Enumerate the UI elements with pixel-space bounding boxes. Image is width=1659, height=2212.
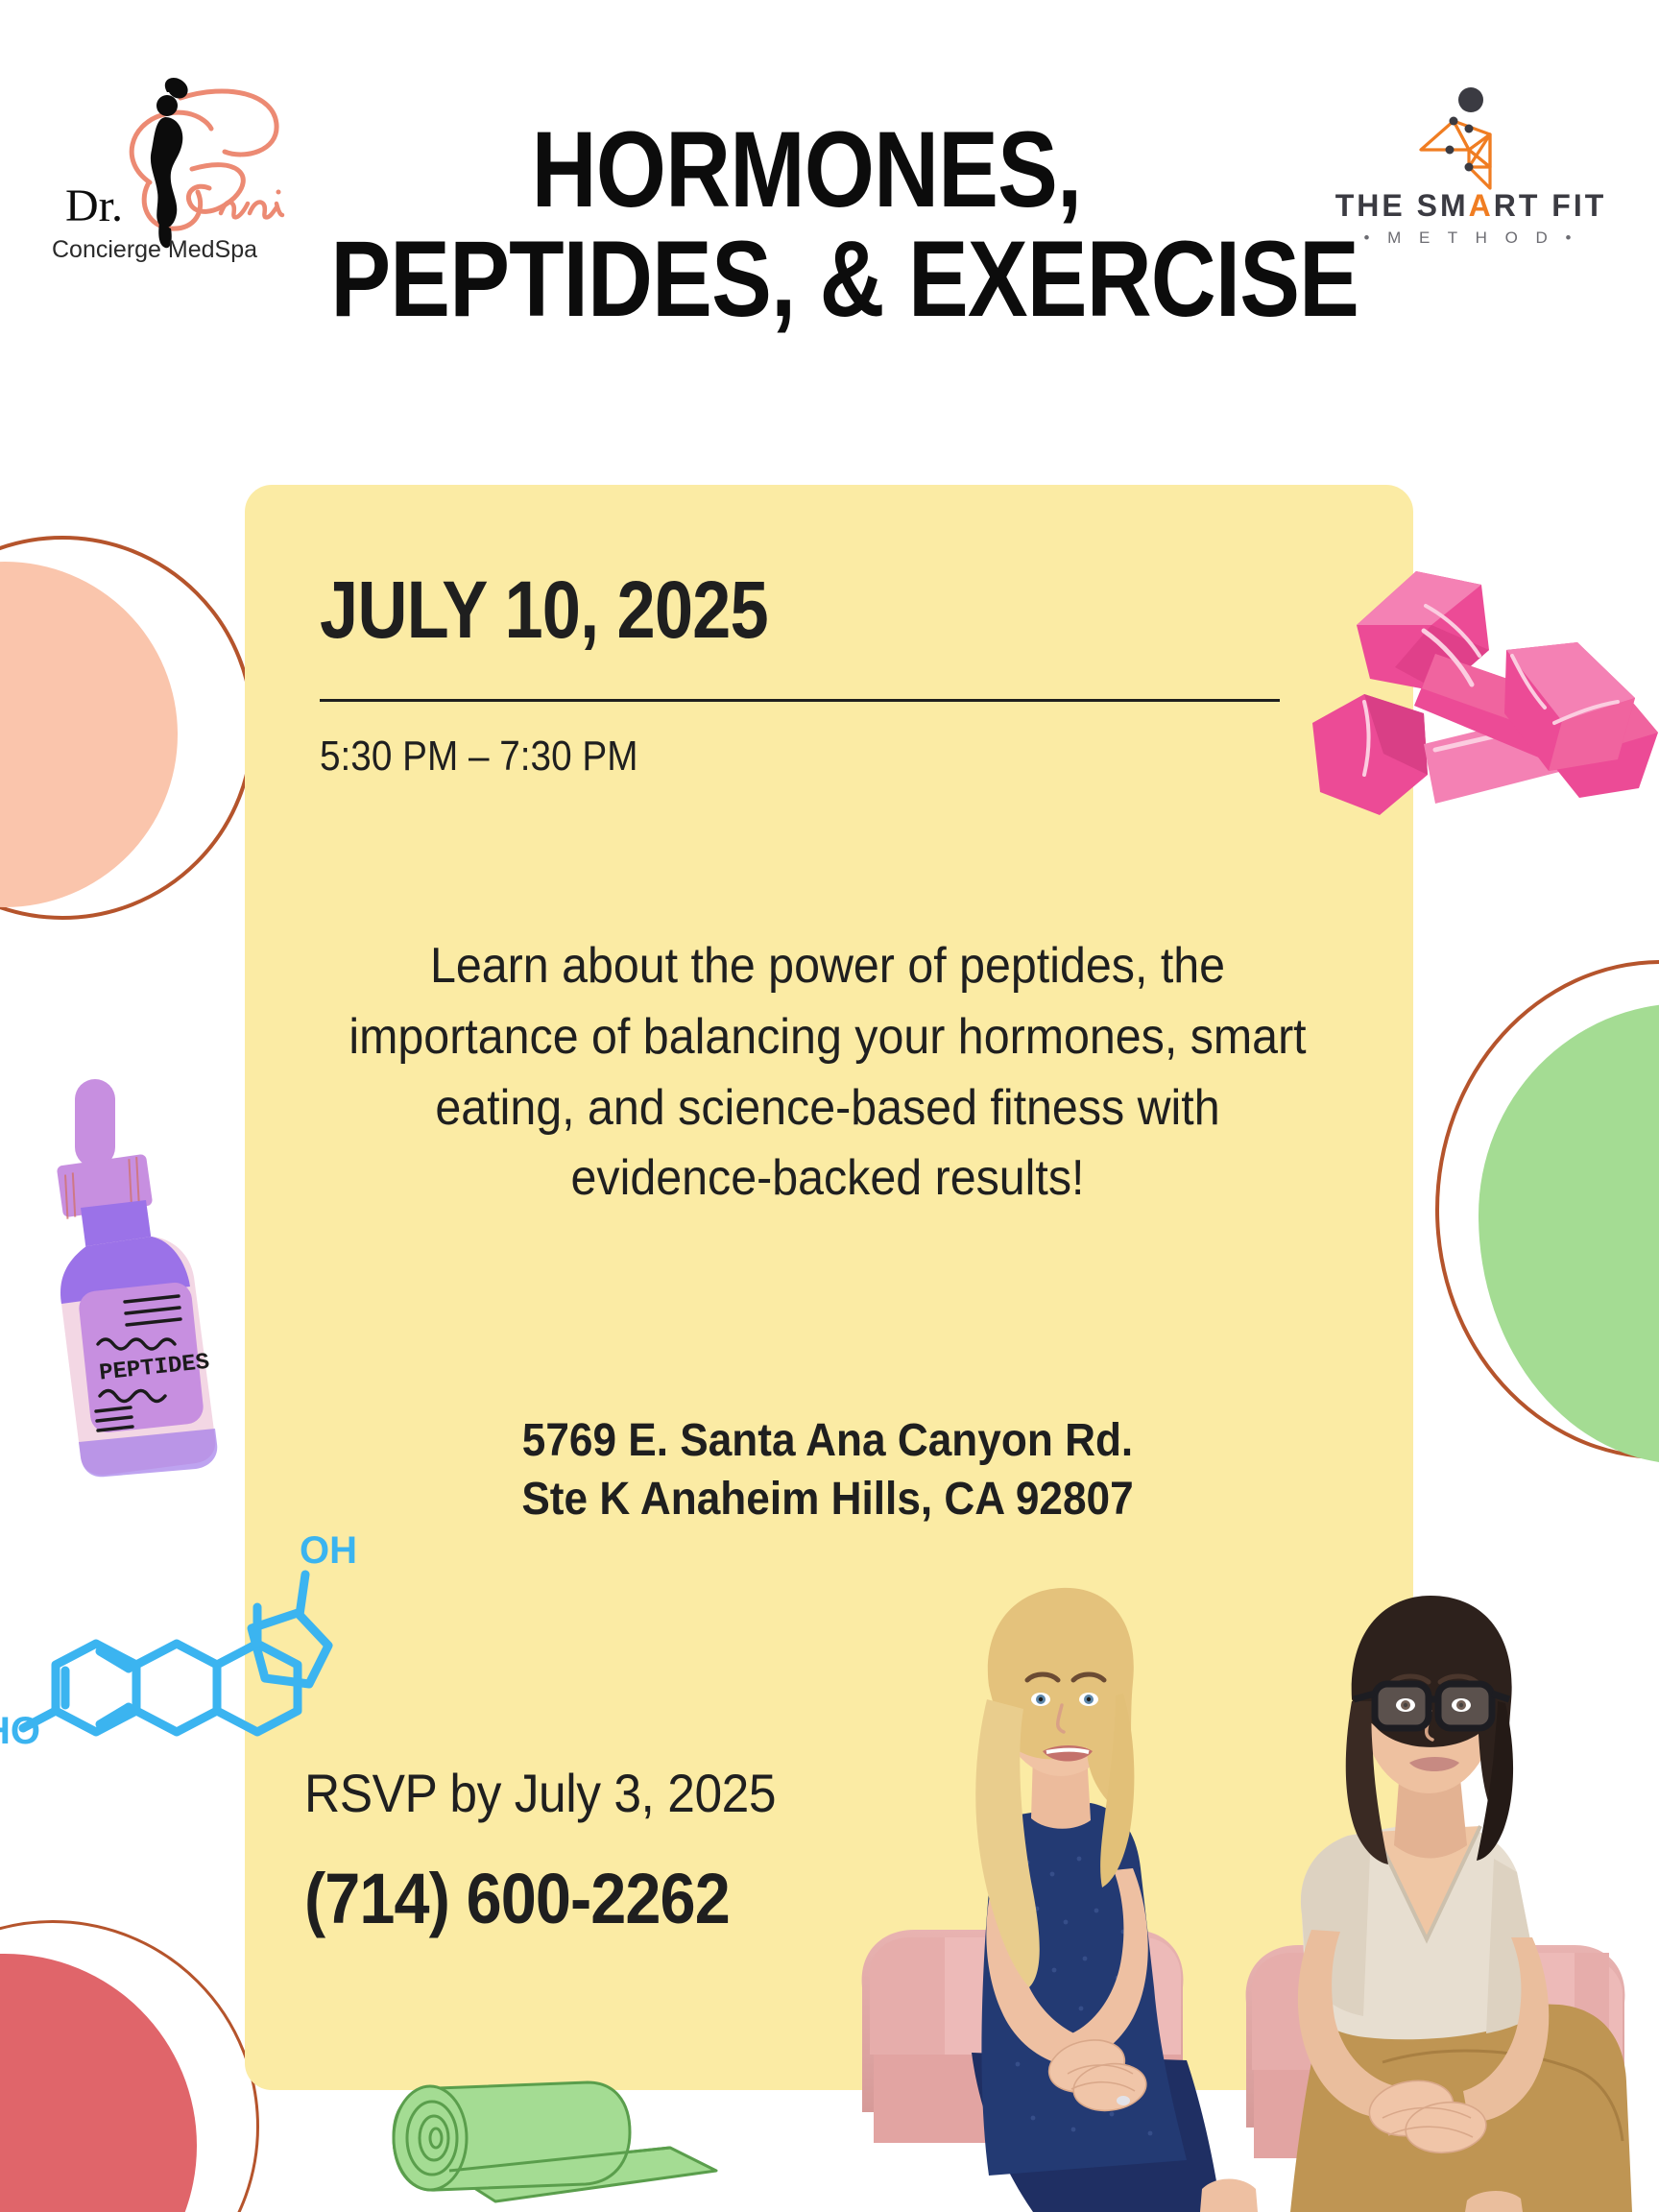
- rsvp-phone-number[interactable]: (714) 600-2262: [304, 1858, 730, 1939]
- flyer-header: Dr. Concierge MedSpa THE SM: [0, 0, 1659, 461]
- page-title: HORMONES, PEPTIDES, & EXERCISE: [330, 115, 1282, 334]
- woman-silhouette-icon: Dr. Concierge MedSpa: [46, 69, 325, 276]
- address-line-2: Ste K Anaheim Hills, CA 92807: [347, 1470, 1310, 1528]
- yoga-mat-icon: [382, 2079, 728, 2212]
- flyer-page: Dr. Concierge MedSpa THE SM: [0, 0, 1659, 2212]
- title-line-1: HORMONES,: [330, 115, 1282, 225]
- smart-fit-method-line: • M E T H O D •: [1363, 228, 1577, 247]
- dumbbells-icon: [1301, 562, 1659, 874]
- molecule-label-ho: HO: [0, 1710, 40, 1752]
- event-date: JULY 10, 2025: [320, 564, 768, 657]
- rsvp-deadline: RSVP by July 3, 2025: [304, 1762, 776, 1824]
- title-line-2: PEPTIDES, & EXERCISE: [330, 225, 1282, 334]
- dropper-bottle-icon: PEPTIDES: [36, 1073, 262, 1481]
- dr-shadi-tagline: Concierge MedSpa: [52, 236, 257, 263]
- event-time: 5:30 PM – 7:30 PM: [320, 733, 637, 781]
- two-speakers-photo: [845, 1575, 1659, 2212]
- card-divider: [320, 699, 1280, 702]
- event-description: Learn about the power of peptides, the i…: [341, 931, 1314, 1214]
- dr-shadi-logo: Dr. Concierge MedSpa: [46, 69, 325, 276]
- estradiol-molecule-icon: HO OH: [0, 1515, 372, 1827]
- molecule-label-oh: OH: [300, 1529, 357, 1572]
- event-address: 5769 E. Santa Ana Canyon Rd. Ste K Anahe…: [347, 1411, 1310, 1529]
- svg-text:Dr.: Dr.: [65, 180, 123, 231]
- address-line-1: 5769 E. Santa Ana Canyon Rd.: [347, 1411, 1310, 1470]
- smart-fit-name: THE SMART FIT: [1335, 188, 1607, 223]
